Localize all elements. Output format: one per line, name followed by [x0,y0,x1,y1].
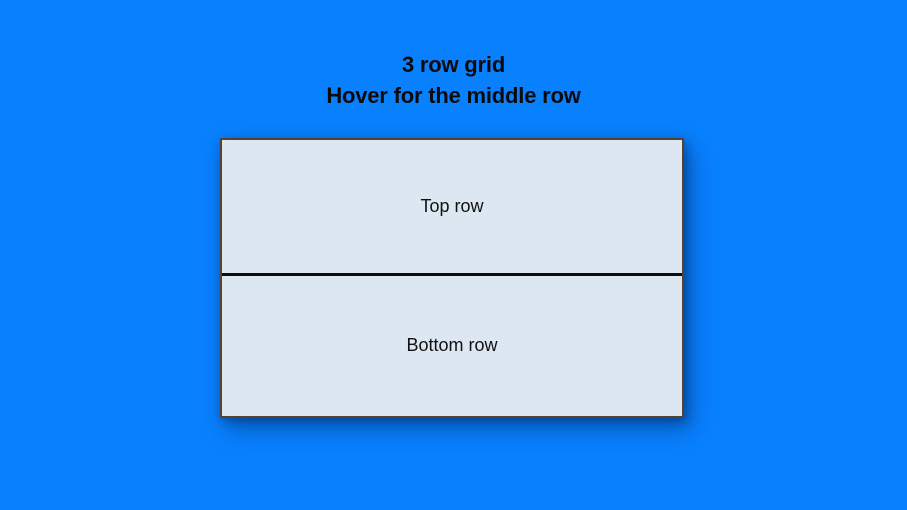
page-heading: 3 row grid Hover for the middle row [0,49,907,111]
heading-line-title: 3 row grid [0,49,907,80]
three-row-grid[interactable]: Top row Middle row Bottom row [220,138,684,418]
grid-row-bottom-label: Bottom row [406,335,497,357]
grid-row-bottom[interactable]: Bottom row [222,276,682,416]
page-root: 3 row grid Hover for the middle row Top … [0,0,907,510]
heading-line-hint: Hover for the middle row [0,80,907,111]
grid-row-top-label: Top row [420,196,483,218]
grid-row-top[interactable]: Top row [222,140,682,276]
